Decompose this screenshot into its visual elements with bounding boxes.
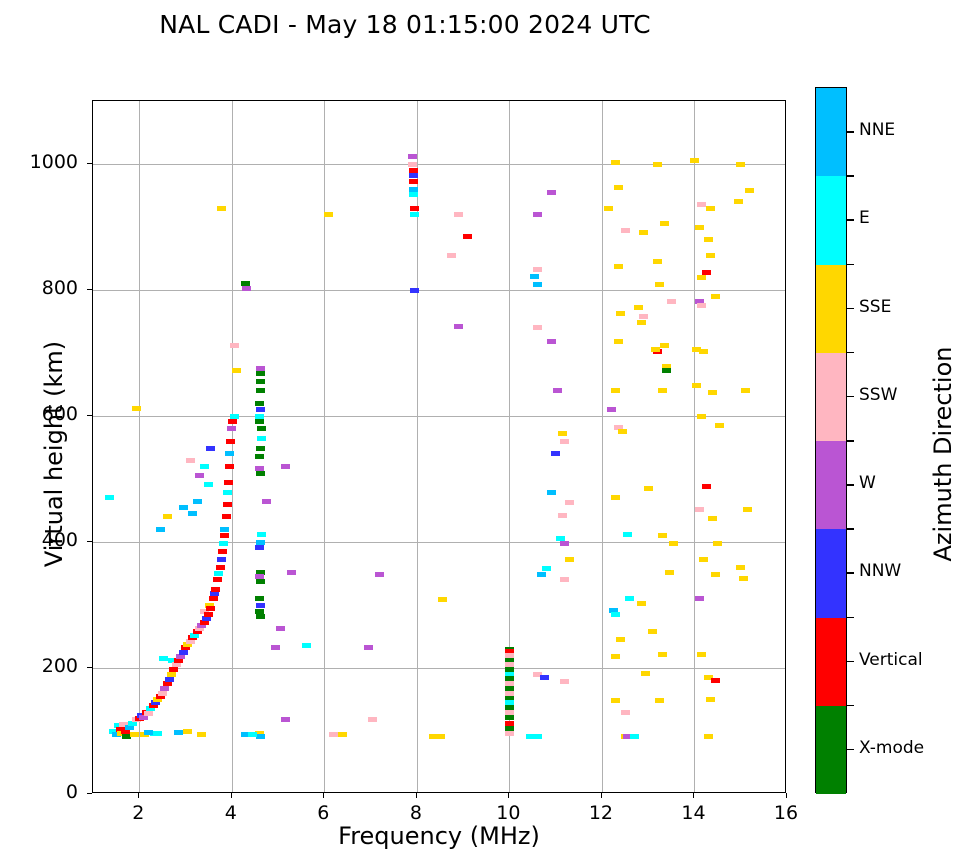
data-point — [220, 533, 229, 538]
data-point — [537, 572, 546, 577]
data-point — [223, 502, 232, 507]
colorbar-tick — [847, 131, 854, 133]
colorbar[interactable] — [815, 87, 847, 793]
colorbar-segment-w[interactable] — [816, 441, 846, 529]
data-point — [256, 379, 265, 384]
colorbar-title: Azimuth Direction — [929, 304, 957, 604]
data-point — [637, 601, 646, 606]
data-point — [715, 423, 724, 428]
data-point — [163, 681, 172, 686]
gridline-horizontal — [93, 416, 785, 417]
data-point — [230, 414, 239, 419]
data-point — [530, 274, 539, 279]
data-point — [248, 732, 257, 737]
data-point — [533, 282, 542, 287]
data-point — [547, 339, 556, 344]
data-point — [256, 734, 265, 739]
colorbar-tick — [847, 572, 854, 574]
data-point — [704, 237, 713, 242]
data-point — [176, 654, 185, 659]
colorbar-segment-nne[interactable] — [816, 88, 846, 176]
data-point — [616, 637, 625, 642]
data-point — [533, 734, 542, 739]
data-point — [711, 572, 720, 577]
data-point — [611, 698, 620, 703]
data-point — [410, 206, 419, 211]
data-point — [547, 490, 556, 495]
x-axis-tick-label: 8 — [386, 802, 446, 824]
data-point — [256, 371, 265, 376]
colorbar-label-w: W — [859, 473, 876, 493]
data-point — [614, 185, 623, 190]
data-point — [695, 596, 704, 601]
data-point — [533, 325, 542, 330]
data-point — [257, 426, 266, 431]
data-point — [616, 311, 625, 316]
data-point — [607, 407, 616, 412]
data-point — [287, 570, 296, 575]
gridline-horizontal — [93, 290, 785, 291]
data-point — [618, 429, 627, 434]
data-point — [505, 731, 514, 736]
y-axis-tick — [87, 289, 92, 290]
data-point — [630, 734, 639, 739]
data-point — [697, 414, 706, 419]
plot-canvas — [93, 101, 785, 792]
ionogram-page: NAL CADI - May 18 01:15:00 2024 UTC 2468… — [0, 0, 958, 857]
x-axis-tick-label: 4 — [201, 802, 261, 824]
y-axis-tick — [87, 415, 92, 416]
data-point — [706, 206, 715, 211]
data-point — [281, 717, 290, 722]
data-point — [375, 572, 384, 577]
x-axis-tick — [601, 793, 602, 798]
data-point — [220, 527, 229, 532]
x-axis-title: Frequency (MHz) — [92, 822, 786, 850]
data-point — [179, 650, 188, 655]
data-point — [144, 730, 153, 735]
data-point — [560, 541, 569, 546]
data-point — [105, 495, 114, 500]
data-point — [658, 533, 667, 538]
data-point — [658, 652, 667, 657]
data-point — [667, 299, 676, 304]
data-point — [699, 349, 708, 354]
data-point — [262, 499, 271, 504]
data-point — [217, 206, 226, 211]
data-point — [454, 212, 463, 217]
y-axis-tick-label: 0 — [8, 781, 78, 803]
data-point — [255, 545, 264, 550]
data-point — [438, 597, 447, 602]
data-point — [558, 513, 567, 518]
data-point — [704, 734, 713, 739]
data-point — [651, 347, 660, 352]
data-point — [159, 656, 168, 661]
data-point — [655, 698, 664, 703]
data-point — [324, 212, 333, 217]
data-point — [256, 446, 265, 451]
data-point — [695, 507, 704, 512]
data-point — [209, 596, 218, 601]
gridline-vertical — [694, 101, 695, 792]
data-point — [505, 715, 514, 720]
colorbar-segment-ssw[interactable] — [816, 353, 846, 441]
data-point — [271, 645, 280, 650]
data-point — [227, 426, 236, 431]
data-point — [702, 484, 711, 489]
colorbar-segment-sse[interactable] — [816, 265, 846, 353]
data-point — [463, 234, 472, 239]
data-point — [611, 495, 620, 500]
data-point — [193, 499, 202, 504]
data-point — [219, 541, 228, 546]
y-axis-tick — [87, 541, 92, 542]
data-point — [540, 675, 549, 680]
x-axis-tick — [323, 793, 324, 798]
colorbar-label-e: E — [859, 208, 870, 228]
colorbar-boundary-tick — [847, 528, 854, 530]
data-point — [745, 188, 754, 193]
colorbar-tick — [847, 661, 854, 663]
data-point — [623, 532, 632, 537]
data-point — [409, 192, 418, 197]
colorbar-label-nne: NNE — [859, 120, 895, 140]
x-axis-tick-label: 2 — [108, 802, 168, 824]
data-point — [662, 368, 671, 373]
data-point — [410, 288, 419, 293]
data-point — [741, 388, 750, 393]
data-point — [734, 199, 743, 204]
data-point — [653, 162, 662, 167]
x-axis-tick-label: 14 — [663, 802, 723, 824]
x-axis-tick — [508, 793, 509, 798]
gridline-vertical — [602, 101, 603, 792]
data-point — [625, 596, 634, 601]
data-point — [614, 339, 623, 344]
data-point — [225, 451, 234, 456]
data-point — [713, 541, 722, 546]
data-point — [533, 267, 542, 272]
data-point — [708, 516, 717, 521]
data-point — [256, 407, 265, 412]
x-axis-tick — [786, 793, 787, 798]
colorbar-boundary-tick — [847, 617, 854, 619]
data-point — [223, 490, 232, 495]
x-axis-tick-label: 16 — [756, 802, 816, 824]
data-point — [195, 473, 204, 478]
data-point — [706, 253, 715, 258]
data-point — [257, 436, 266, 441]
gridline-vertical — [139, 101, 140, 792]
colorbar-segment-x-mode[interactable] — [816, 706, 846, 794]
data-point — [183, 729, 192, 734]
colorbar-label-x-mode: X-mode — [859, 738, 924, 758]
data-point — [408, 162, 417, 167]
data-point — [172, 662, 181, 667]
data-point — [706, 697, 715, 702]
data-point — [210, 591, 219, 596]
data-point — [200, 464, 209, 469]
data-point — [222, 514, 231, 519]
colorbar-segment-vertical[interactable] — [816, 618, 846, 706]
x-axis-tick — [138, 793, 139, 798]
data-point — [644, 486, 653, 491]
data-point — [130, 732, 139, 737]
data-point — [364, 645, 373, 650]
data-point — [125, 725, 134, 730]
data-point — [653, 259, 662, 264]
data-point — [604, 206, 613, 211]
colorbar-segment-nnw[interactable] — [816, 529, 846, 617]
data-point — [553, 388, 562, 393]
gridline-horizontal — [93, 164, 785, 165]
page-title: NAL CADI - May 18 01:15:00 2024 UTC — [0, 10, 810, 39]
data-point — [256, 366, 265, 371]
colorbar-tick — [847, 396, 854, 398]
data-point — [660, 343, 669, 348]
data-point — [736, 565, 745, 570]
data-point — [409, 179, 418, 184]
data-point — [204, 612, 213, 617]
colorbar-tick — [847, 749, 854, 751]
x-axis-tick — [231, 793, 232, 798]
data-point — [329, 732, 338, 737]
data-point — [711, 678, 720, 683]
data-point — [708, 390, 717, 395]
gridline-horizontal — [93, 542, 785, 543]
data-point — [695, 225, 704, 230]
data-point — [669, 541, 678, 546]
data-point — [410, 212, 419, 217]
colorbar-segment-e[interactable] — [816, 176, 846, 264]
data-point — [611, 612, 620, 617]
data-point — [621, 710, 630, 715]
data-point — [217, 557, 226, 562]
data-point — [167, 672, 176, 677]
data-point — [408, 154, 417, 159]
data-point — [132, 406, 141, 411]
data-point — [641, 671, 650, 676]
data-point — [697, 303, 706, 308]
colorbar-boundary-tick — [847, 175, 854, 177]
data-point — [621, 228, 630, 233]
y-axis-tick-label: 1000 — [8, 151, 78, 173]
data-point — [639, 230, 648, 235]
colorbar-boundary-tick — [847, 440, 854, 442]
data-point — [660, 221, 669, 226]
data-point — [211, 587, 220, 592]
y-axis-tick — [87, 793, 92, 794]
data-point — [256, 579, 265, 584]
colorbar-boundary-tick — [847, 705, 854, 707]
data-point — [565, 500, 574, 505]
data-point — [169, 667, 178, 672]
data-point — [218, 549, 227, 554]
data-point — [242, 286, 251, 291]
data-point — [736, 162, 745, 167]
colorbar-boundary-tick — [847, 352, 854, 354]
data-point — [213, 577, 222, 582]
data-point — [692, 383, 701, 388]
data-point — [655, 282, 664, 287]
data-point — [409, 173, 418, 178]
data-point — [144, 711, 153, 716]
data-point — [255, 401, 264, 406]
data-point — [228, 419, 237, 424]
data-point — [711, 294, 720, 299]
data-point — [197, 732, 206, 737]
gridline-vertical — [324, 101, 325, 792]
data-point — [565, 557, 574, 562]
data-point — [639, 314, 648, 319]
x-axis-tick-label: 12 — [571, 802, 631, 824]
gridline-vertical — [232, 101, 233, 792]
data-point — [153, 731, 162, 736]
data-point — [697, 652, 706, 657]
data-point — [368, 717, 377, 722]
data-point — [697, 275, 706, 280]
data-point — [697, 202, 706, 207]
data-point — [447, 253, 456, 258]
data-point — [560, 679, 569, 684]
data-point — [232, 368, 241, 373]
data-point — [611, 160, 620, 165]
data-point — [560, 577, 569, 582]
data-point — [256, 471, 265, 476]
data-point — [156, 527, 165, 532]
data-point — [558, 431, 567, 436]
gridline-horizontal — [93, 668, 785, 669]
data-point — [611, 388, 620, 393]
plot-area[interactable] — [92, 100, 786, 793]
data-point — [436, 734, 445, 739]
colorbar-boundary-tick — [847, 264, 854, 266]
data-point — [281, 464, 290, 469]
data-point — [547, 190, 556, 195]
data-point — [542, 566, 551, 571]
data-point — [533, 212, 542, 217]
data-point — [214, 571, 223, 576]
y-axis-title: Virtual height (km) — [40, 304, 68, 604]
data-point — [158, 691, 167, 696]
data-point — [165, 677, 174, 682]
colorbar-label-vertical: Vertical — [859, 650, 923, 670]
colorbar-tick — [847, 219, 854, 221]
colorbar-label-nnw: NNW — [859, 561, 901, 581]
data-point — [188, 511, 197, 516]
data-point — [230, 343, 239, 348]
data-point — [226, 439, 235, 444]
data-point — [174, 730, 183, 735]
data-point — [699, 557, 708, 562]
data-point — [256, 388, 265, 393]
data-point — [255, 596, 264, 601]
data-point — [202, 616, 211, 621]
data-point — [216, 565, 225, 570]
y-axis-tick-label: 200 — [8, 655, 78, 677]
data-point — [255, 419, 264, 424]
data-point — [690, 158, 699, 163]
data-point — [276, 626, 285, 631]
colorbar-tick — [847, 308, 854, 310]
colorbar-tick — [847, 484, 854, 486]
colorbar-label-sse: SSE — [859, 297, 891, 317]
data-point — [179, 505, 188, 510]
data-point — [551, 451, 560, 456]
data-point — [743, 507, 752, 512]
data-point — [163, 514, 172, 519]
data-point — [160, 686, 169, 691]
y-axis-tick-label: 800 — [8, 277, 78, 299]
data-point — [204, 482, 213, 487]
data-point — [224, 480, 233, 485]
x-axis-tick — [416, 793, 417, 798]
data-point — [256, 603, 265, 608]
data-point — [338, 732, 347, 737]
data-point — [454, 324, 463, 329]
x-axis-tick — [693, 793, 694, 798]
data-point — [739, 576, 748, 581]
data-point — [611, 654, 620, 659]
y-axis-tick — [87, 667, 92, 668]
data-point — [658, 388, 667, 393]
data-point — [648, 629, 657, 634]
y-axis-tick — [87, 163, 92, 164]
data-point — [225, 464, 234, 469]
x-axis-tick-label: 10 — [478, 802, 538, 824]
data-point — [186, 458, 195, 463]
data-point — [560, 439, 569, 444]
data-point — [665, 570, 674, 575]
data-point — [206, 606, 215, 611]
data-point — [206, 446, 215, 451]
colorbar-label-ssw: SSW — [859, 385, 897, 405]
data-point — [255, 454, 264, 459]
data-point — [256, 614, 265, 619]
data-point — [302, 643, 311, 648]
data-point — [634, 305, 643, 310]
x-axis-tick-label: 6 — [293, 802, 353, 824]
data-point — [257, 532, 266, 537]
data-point — [614, 264, 623, 269]
data-point — [637, 320, 646, 325]
